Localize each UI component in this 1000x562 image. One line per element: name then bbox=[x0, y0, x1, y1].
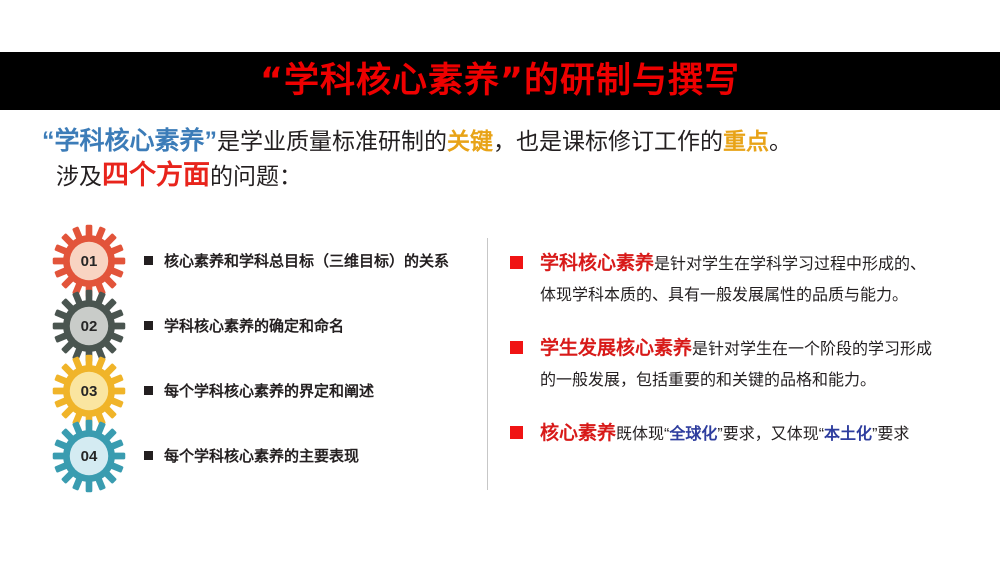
subtitle-text-b: ，也是课标修订工作的 bbox=[493, 128, 723, 154]
red-square-bullet-icon bbox=[510, 256, 523, 269]
page-title: “学科核心素养”的研制与撰写 bbox=[260, 64, 740, 99]
square-bullet-icon bbox=[144, 386, 153, 395]
square-bullet-icon bbox=[144, 256, 153, 265]
definition-line-1: 学生发展核心素养是针对学生在一个阶段的学习形成 bbox=[540, 333, 988, 365]
gear-number: 04 bbox=[52, 419, 126, 493]
red-square-bullet-icon bbox=[510, 341, 523, 354]
subtitle-line-2: 涉及四个方面的问题： bbox=[42, 158, 972, 193]
definition-text-c: ”要求 bbox=[872, 426, 909, 443]
definition-term: 核心素养 bbox=[540, 423, 616, 444]
list-item-label: 核心素养和学科总目标（三维目标）的关系 bbox=[164, 250, 449, 271]
list-item-label-wrap: 学科核心素养的确定和命名 bbox=[144, 315, 344, 336]
subtitle-keyword-blue: “学科核心素养” bbox=[42, 127, 217, 155]
gear-number: 02 bbox=[52, 289, 126, 363]
right-column-list: 学科核心素养是针对学生在学科学习过程中形成的、 体现学科本质的、具有一般发展属性… bbox=[510, 248, 988, 472]
list-item-label-wrap: 核心素养和学科总目标（三维目标）的关系 bbox=[144, 250, 449, 271]
title-banner: “学科核心素养”的研制与撰写 bbox=[0, 52, 1000, 110]
subtitle-text-c: 。 bbox=[769, 128, 792, 154]
subtitle2-keyword-red: 四个方面 bbox=[102, 160, 210, 190]
list-item[interactable]: 04 每个学科核心素养的主要表现 bbox=[52, 419, 472, 484]
definition-keyword-blue-2: 本土化 bbox=[824, 426, 872, 443]
subtitle-keyword-gold-2: 重点 bbox=[723, 128, 769, 154]
definition-text-b: ”要求，又体现“ bbox=[717, 426, 824, 443]
list-item[interactable]: 03 每个学科核心素养的界定和阐述 bbox=[52, 354, 472, 419]
list-item-label-wrap: 每个学科核心素养的界定和阐述 bbox=[144, 380, 374, 401]
subtitle-line-1: “学科核心素养”是学业质量标准研制的关键，也是课标修订工作的重点。 bbox=[42, 124, 972, 158]
slide-canvas: “学科核心素养”的研制与撰写 “学科核心素养”是学业质量标准研制的关键，也是课标… bbox=[0, 0, 1000, 562]
definition-line-2: 的一般发展，包括重要的和关键的品格和能力。 bbox=[540, 365, 988, 396]
list-item-label: 每个学科核心素养的主要表现 bbox=[164, 445, 359, 466]
subtitle-keyword-gold-1: 关键 bbox=[447, 128, 493, 154]
definition-line-1: 学科核心素养是针对学生在学科学习过程中形成的、 bbox=[540, 248, 988, 280]
definition-text: 是针对学生在一个阶段的学习形成 bbox=[692, 341, 932, 358]
definition-line-1: 核心素养既体现“全球化”要求，又体现“本土化”要求 bbox=[540, 418, 988, 450]
square-bullet-icon bbox=[144, 451, 153, 460]
definition-line-2: 体现学科本质的、具有一般发展属性的品质与能力。 bbox=[540, 280, 988, 311]
subtitle2-text-b: 的问题： bbox=[210, 163, 302, 189]
subtitle-text-a: 是学业质量标准研制的 bbox=[217, 128, 447, 154]
definition-keyword-blue-1: 全球化 bbox=[669, 426, 717, 443]
list-item-label: 学科核心素养的确定和命名 bbox=[164, 315, 344, 336]
left-column-list: 01 核心素养和学科总目标（三维目标）的关系 02 学科核心素养的确定和命名 bbox=[52, 224, 472, 484]
definition-text: 是针对学生在学科学习过程中形成的、 bbox=[654, 256, 926, 273]
red-square-bullet-icon bbox=[510, 426, 523, 439]
definition-item[interactable]: 学科核心素养是针对学生在学科学习过程中形成的、 体现学科本质的、具有一般发展属性… bbox=[510, 248, 988, 311]
square-bullet-icon bbox=[144, 321, 153, 330]
list-item[interactable]: 02 学科核心素养的确定和命名 bbox=[52, 289, 472, 354]
subtitle-block: “学科核心素养”是学业质量标准研制的关键，也是课标修订工作的重点。 涉及四个方面… bbox=[42, 124, 972, 193]
definition-term: 学科核心素养 bbox=[540, 253, 654, 274]
gear-number: 01 bbox=[52, 224, 126, 298]
definition-item[interactable]: 学生发展核心素养是针对学生在一个阶段的学习形成 的一般发展，包括重要的和关键的品… bbox=[510, 333, 988, 396]
list-item[interactable]: 01 核心素养和学科总目标（三维目标）的关系 bbox=[52, 224, 472, 289]
definition-term: 学生发展核心素养 bbox=[540, 338, 692, 359]
list-item-label-wrap: 每个学科核心素养的主要表现 bbox=[144, 445, 359, 466]
gear-number: 03 bbox=[52, 354, 126, 428]
subtitle2-text-a: 涉及 bbox=[56, 163, 102, 189]
list-item-label: 每个学科核心素养的界定和阐述 bbox=[164, 380, 374, 401]
column-divider bbox=[487, 238, 488, 490]
definition-text-a: 既体现“ bbox=[616, 426, 669, 443]
definition-item[interactable]: 核心素养既体现“全球化”要求，又体现“本土化”要求 bbox=[510, 418, 988, 450]
